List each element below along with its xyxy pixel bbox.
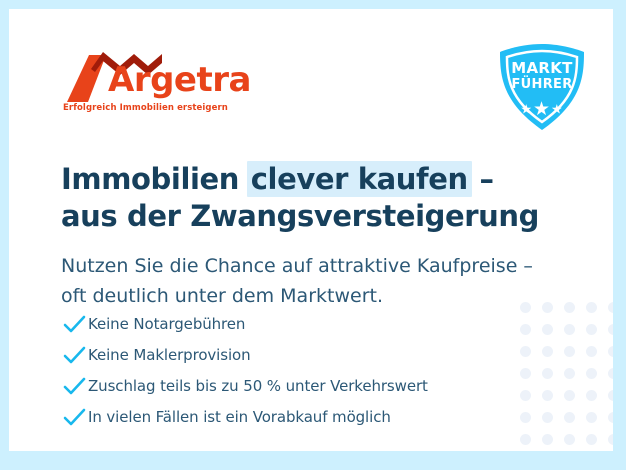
decoration-dot: [542, 302, 553, 313]
check-icon: [62, 407, 88, 427]
list-item: Keine Notargebühren: [62, 308, 532, 339]
decoration-dot: [586, 412, 597, 423]
headline-text-before: Immobilien: [61, 162, 249, 196]
decoration-dot: [608, 434, 613, 445]
decoration-dot: [520, 434, 531, 445]
decoration-dot: [542, 368, 553, 379]
decoration-dot: [542, 346, 553, 357]
decoration-dot: [542, 434, 553, 445]
headline: Immobilien clever kaufen – aus der Zwang…: [61, 161, 531, 235]
shield-icon: [496, 42, 588, 132]
decoration-dot: [564, 368, 575, 379]
decoration-dot: [586, 434, 597, 445]
decoration-dot: [608, 324, 613, 335]
banner-card: Argetra Erfolgreich Immobilien ersteiger…: [9, 9, 613, 451]
decoration-dot: [564, 412, 575, 423]
logo-tagline: Erfolgreich Immobilien ersteigern: [63, 103, 228, 113]
promo-banner: Argetra Erfolgreich Immobilien ersteiger…: [0, 0, 626, 470]
decoration-dot: [608, 302, 613, 313]
decoration-dot: [564, 390, 575, 401]
decoration-dot: [542, 390, 553, 401]
headline-highlight: clever kaufen: [247, 161, 472, 197]
benefit-list: Keine Notargebühren Keine Maklerprovisio…: [62, 308, 532, 432]
subheading: Nutzen Sie die Chance auf attraktive Kau…: [61, 251, 541, 311]
decoration-dot: [564, 302, 575, 313]
decoration-dot: [586, 302, 597, 313]
list-item-label: Keine Maklerprovision: [88, 346, 251, 364]
decoration-dot: [564, 324, 575, 335]
list-item-label: Zuschlag teils bis zu 50 % unter Verkehr…: [88, 377, 428, 395]
decoration-dot: [586, 390, 597, 401]
headline-line-1: Immobilien clever kaufen –: [61, 161, 531, 198]
decoration-dot: [608, 390, 613, 401]
decoration-dot: [542, 412, 553, 423]
decoration-dot: [542, 324, 553, 335]
argetra-logo[interactable]: Argetra Erfolgreich Immobilien ersteiger…: [62, 52, 222, 124]
list-item-label: Keine Notargebühren: [88, 315, 245, 333]
headline-line-2: aus der Zwangsversteigerung: [61, 198, 531, 235]
decoration-dot: [586, 324, 597, 335]
list-item: Zuschlag teils bis zu 50 % unter Verkehr…: [62, 370, 532, 401]
decoration-dot: [608, 346, 613, 357]
check-icon: [62, 345, 88, 365]
list-item: In vielen Fällen ist ein Vorabkauf mögli…: [62, 401, 532, 432]
headline-text-after: –: [470, 162, 494, 196]
logo-wordmark: Argetra: [108, 60, 251, 100]
check-icon: [62, 314, 88, 334]
decoration-dot: [564, 434, 575, 445]
decoration-dot: [608, 368, 613, 379]
subheading-line-1: Nutzen Sie die Chance auf attraktive Kau…: [61, 251, 541, 281]
decoration-dot: [608, 412, 613, 423]
list-item: Keine Maklerprovision: [62, 339, 532, 370]
list-item-label: In vielen Fällen ist ein Vorabkauf mögli…: [88, 408, 391, 426]
decoration-dot: [586, 368, 597, 379]
subheading-line-2: oft deutlich unter dem Marktwert.: [61, 281, 541, 311]
decoration-dot: [586, 346, 597, 357]
decoration-dot: [564, 346, 575, 357]
check-icon: [62, 376, 88, 396]
market-leader-badge: MARKT FÜHRER ★★★: [496, 42, 588, 132]
